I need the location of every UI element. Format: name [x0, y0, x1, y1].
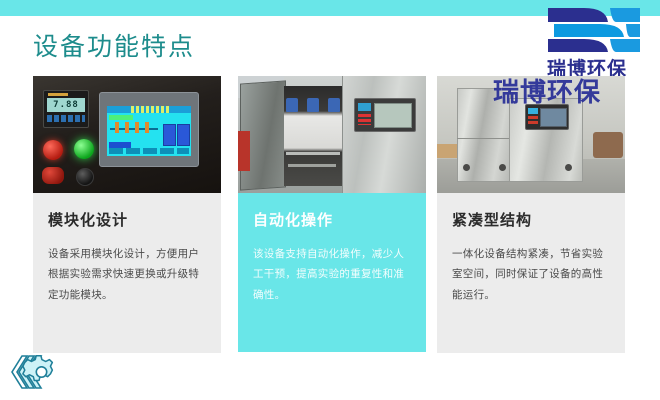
- feature-card-automation[interactable]: 自动化操作 该设备支持自动化操作，减少人工干预，提高实验的重复性和准确性。: [238, 76, 426, 352]
- card-body: 自动化操作 该设备支持自动化操作，减少人工干预，提高实验的重复性和准确性。: [238, 193, 426, 305]
- card-text: 一体化设备结构紧凑，节省实验室空间，同时保证了设备的高性能运行。: [452, 244, 610, 305]
- card-heading: 模块化设计: [48, 209, 206, 230]
- gear-chevrons-icon: [8, 352, 60, 392]
- control-panel-icon: [354, 98, 416, 132]
- feature-card-modular[interactable]: 7.88: [33, 76, 221, 353]
- digital-meter-icon: 7.88: [43, 90, 89, 128]
- card-heading: 紧凑型结构: [452, 209, 610, 230]
- card-heading: 自动化操作: [253, 209, 411, 230]
- slide-root: 瑞博环保 设备功能特点 7.88: [0, 0, 660, 400]
- hmi-touchscreen-icon: [99, 92, 199, 167]
- green-indicator-icon: [74, 139, 94, 159]
- card-text: 设备采用模块化设计，方便用户根据实验需求快速更换或升级特定功能模块。: [48, 244, 206, 305]
- feature-card-compact[interactable]: 瑞博环保 紧凑型结构 一体化设备结构紧凑，节省实验室空间，同时保证了设备的高性能…: [437, 76, 625, 353]
- selector-knob-icon: [76, 168, 94, 186]
- brand-logo: 瑞博环保: [520, 6, 654, 82]
- meter-value: 7.88: [47, 98, 85, 112]
- page-title: 设备功能特点: [33, 27, 195, 63]
- card-body: 紧凑型结构 一体化设备结构紧凑，节省实验室空间，同时保证了设备的高性能运行。: [437, 193, 625, 305]
- card-body: 模块化设计 设备采用模块化设计，方便用户根据实验需求快速更换或升级特定功能模块。: [33, 193, 221, 305]
- card-photo-full-unit: 瑞博环保: [437, 76, 625, 193]
- card-photo-open-cabinet: [238, 76, 426, 193]
- emergency-stop-icon: [42, 167, 64, 184]
- ribo-e-mark-icon: [544, 6, 644, 54]
- fire-extinguisher-icon: [238, 131, 250, 171]
- red-indicator-icon: [43, 140, 63, 160]
- card-photo-control-panel: 7.88: [33, 76, 221, 193]
- photo-watermark: 瑞博环保: [493, 76, 601, 109]
- card-text: 该设备支持自动化操作，减少人工干预，提高实验的重复性和准确性。: [253, 244, 411, 305]
